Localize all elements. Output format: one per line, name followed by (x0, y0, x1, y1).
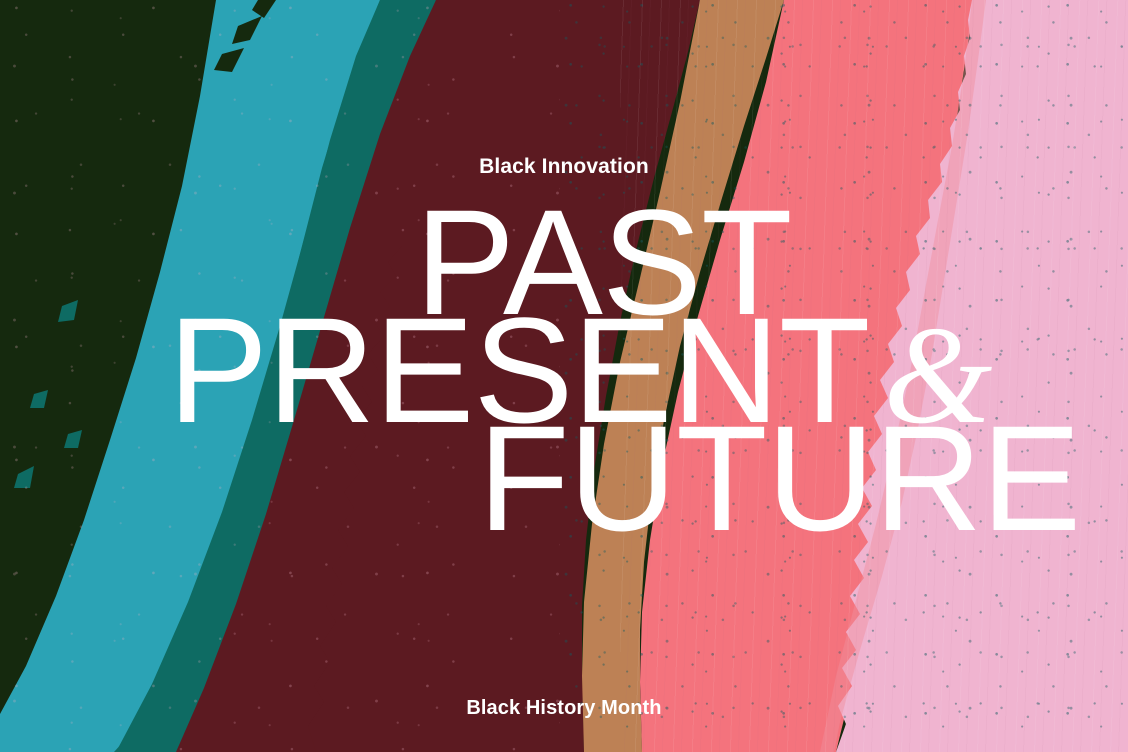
eyebrow-text: Black Innovation (0, 155, 1128, 179)
poster-typography: Black Innovation PAST PRESENT& FUTURE Bl… (0, 0, 1128, 752)
footer-text: Black History Month (0, 697, 1128, 720)
headline-line-future: FUTURE (478, 412, 1080, 544)
poster-canvas: Black Innovation PAST PRESENT& FUTURE Bl… (0, 0, 1128, 752)
